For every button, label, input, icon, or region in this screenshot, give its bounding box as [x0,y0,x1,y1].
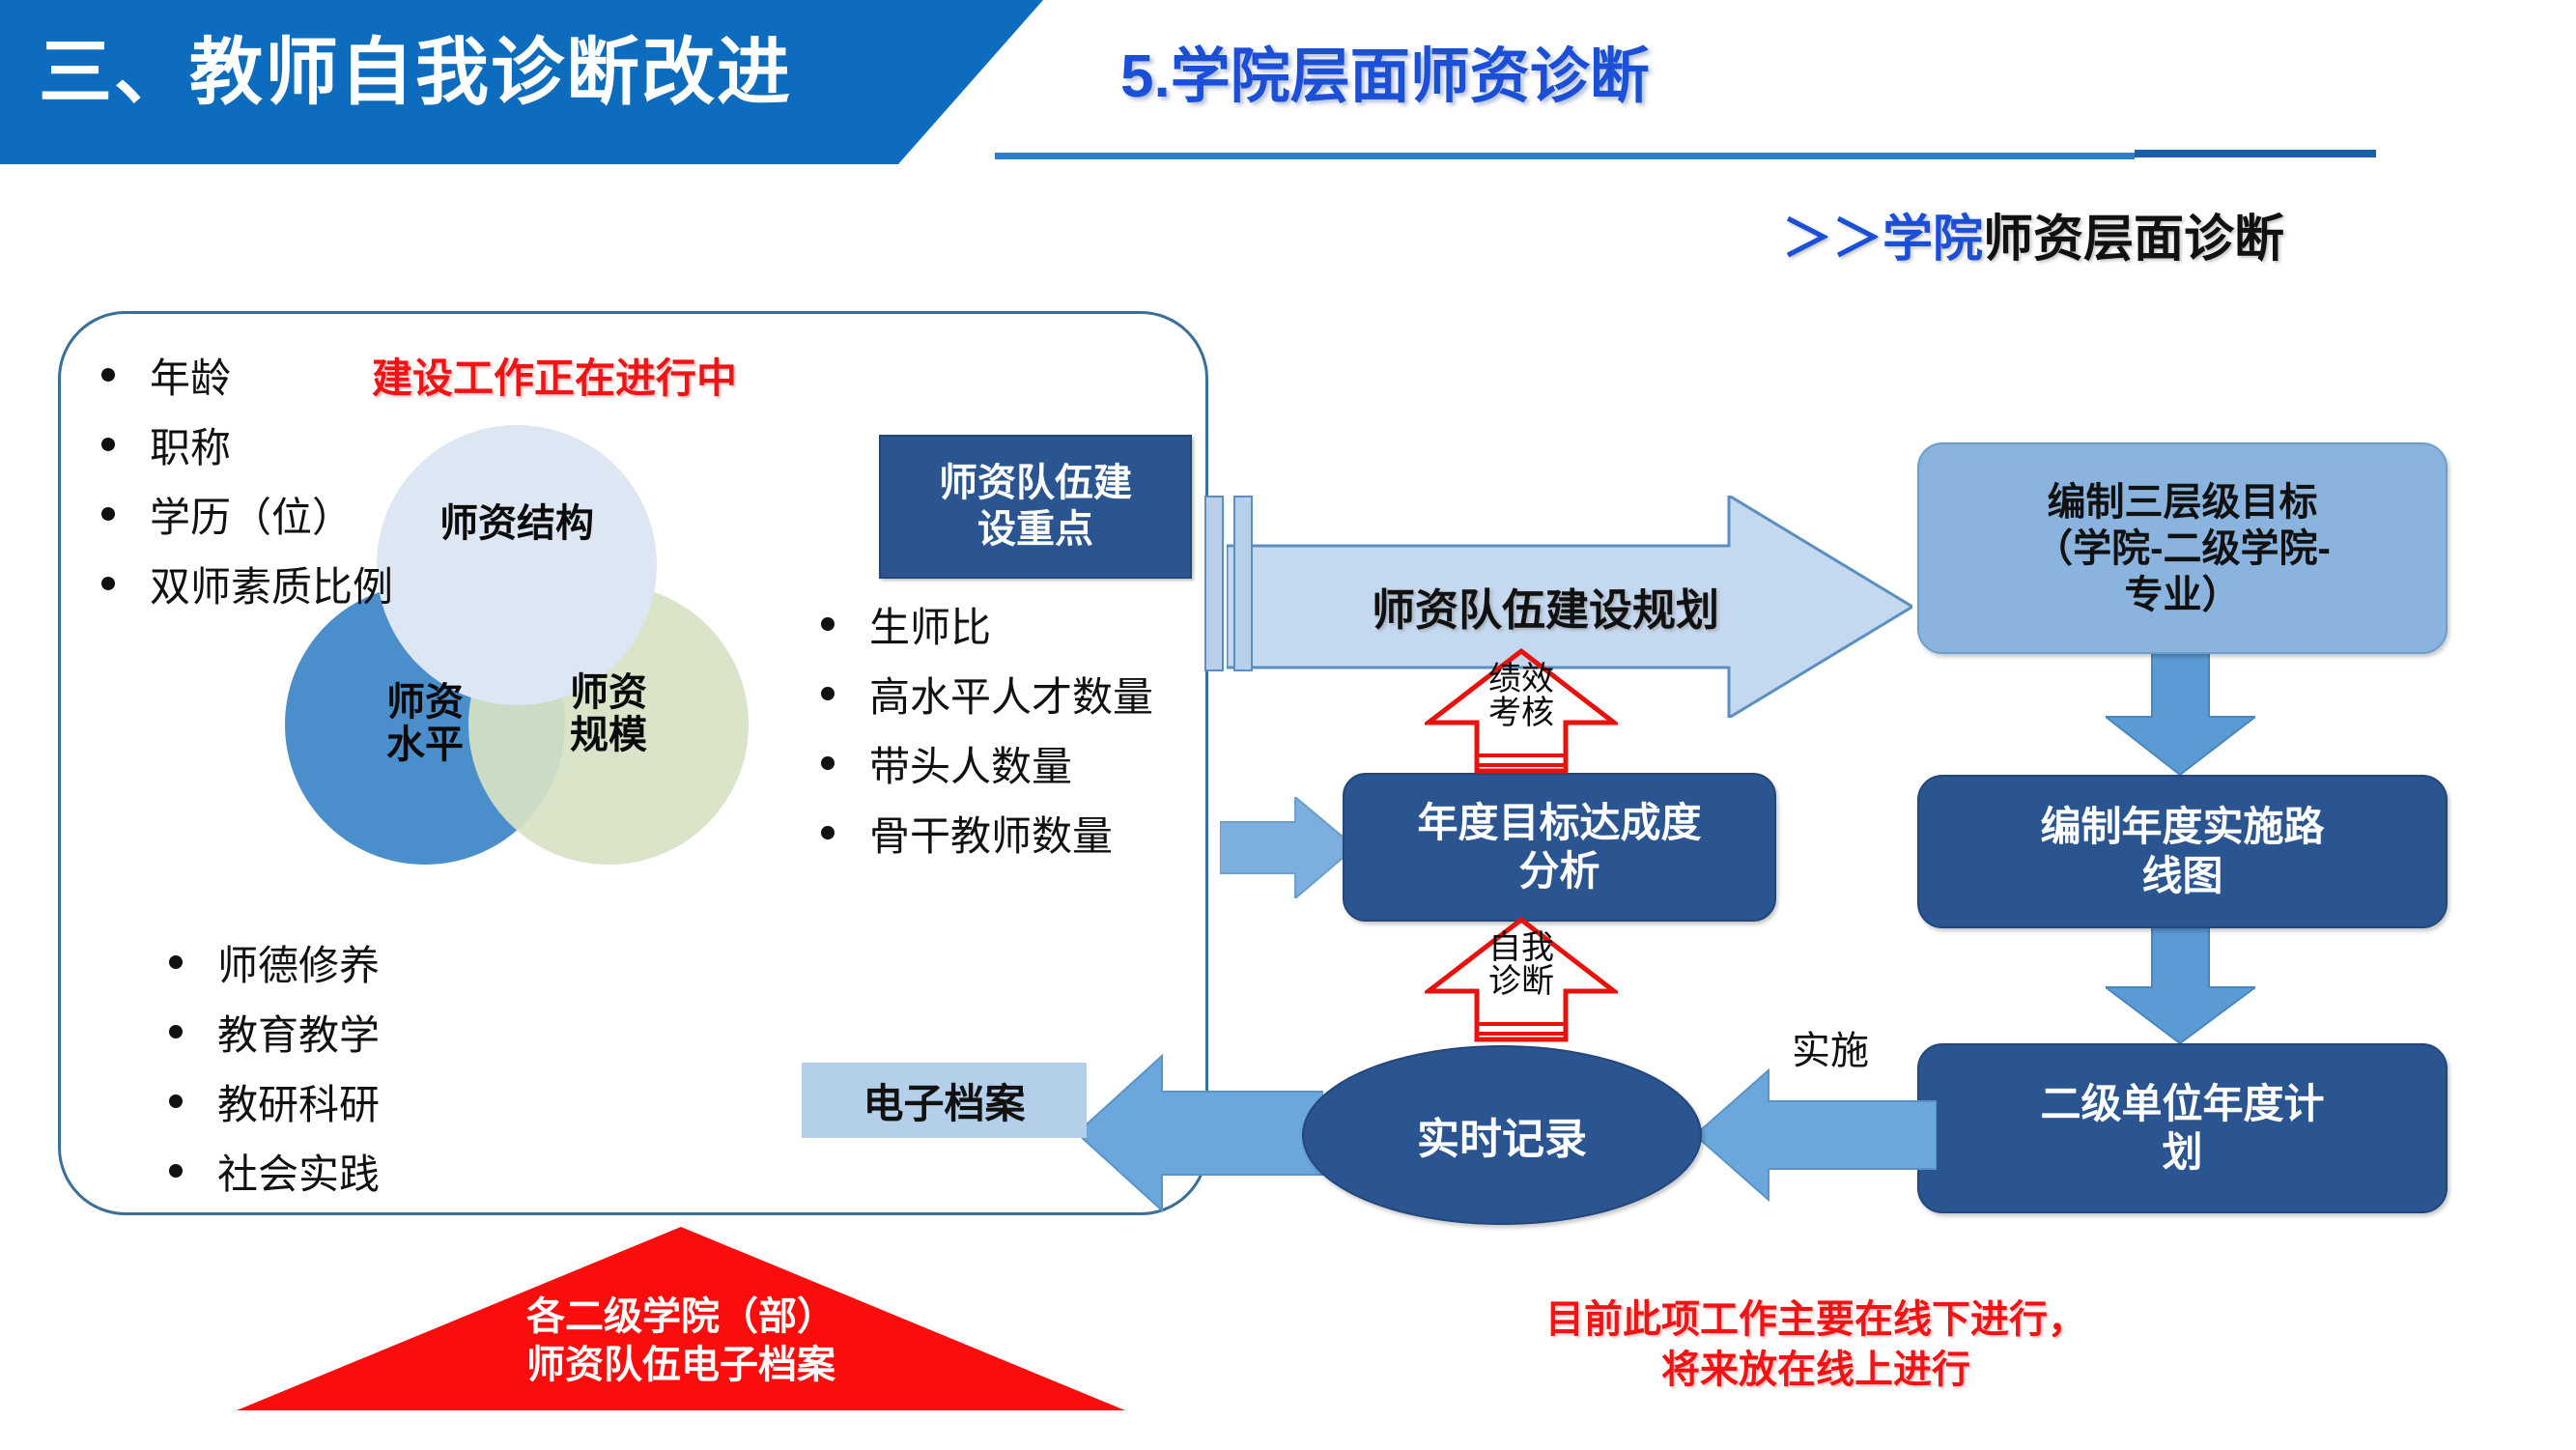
list-item-label: 生师比 [869,595,991,654]
list-item: 教研科研 [169,1066,380,1136]
bullet-dot-icon [101,577,115,590]
bullet-dot-icon [101,368,115,382]
venn-label-structure: 师资结构 [377,502,657,545]
list-item-label: 教育教学 [217,1003,380,1062]
box-annual-goal-analysis: 年度目标达成度分析 [1343,773,1776,922]
list-item-label: 学历（位） [150,485,353,544]
list-item: 带头人数量 [821,728,1153,798]
archive-arrow [1077,1051,1323,1215]
list-item-label: 年龄 [150,346,231,405]
venn-circle-structure [377,425,657,705]
section-title: 5.学院层面师资诊断 [1120,27,1650,114]
list-item-label: 骨干教师数量 [869,804,1113,863]
list-item-label: 职称 [150,415,231,474]
bullet-dot-icon [821,756,835,770]
arrow-tick-1 [1204,496,1224,671]
box-annual-roadmap: 编制年度实施路线图 [1917,775,2448,928]
down-arrow-roadmap-to-unitplan [2106,927,2255,1043]
header-divider-accent [2135,150,2376,157]
box-three-level-goals: 编制三层级目标（学院-二级学院-专业） [1917,442,2448,654]
chapter-title: 三、教师自我诊断改进 [39,15,908,131]
list-item-label: 社会实践 [217,1142,380,1201]
list-item: 职称 [101,410,393,479]
list-item: 年龄 [101,340,393,410]
list-item-label: 师德修养 [217,933,380,992]
implementation-label: 实施 [1792,1019,1869,1075]
list-item: 学历（位） [101,479,393,549]
box-unit-annual-plan: 二级单位年度计划 [1917,1043,2448,1213]
bullet-dot-icon [821,826,835,839]
structure-bullet-list: 年龄 职称 学历（位） 双师素质比例 [101,340,393,618]
scale-bullet-list: 生师比 高水平人才数量 带头人数量 骨干教师数量 [821,589,1153,867]
bullet-dot-icon [101,438,115,451]
bullet-dot-icon [169,955,183,969]
subtitle-marker: ＞＞学院 [1782,212,1983,268]
focus-box: 师资队伍建设重点 [879,435,1192,579]
down-arrow-goals-to-roadmap [2106,653,2255,775]
red-arrow-self-diagnosis-label: 自我诊断 [1444,931,1599,998]
bullet-dot-icon [169,1095,183,1108]
level-bullet-list: 师德修养 教育教学 教研科研 社会实践 [169,927,380,1206]
list-item-label: 双师素质比例 [150,554,393,613]
list-item: 社会实践 [169,1136,380,1206]
header-divider-line [995,153,2135,159]
bullet-dot-icon [821,687,835,700]
red-triangle-label: 各二级学院（部）师资队伍电子档案 [237,1293,1125,1389]
list-item-label: 带头人数量 [869,734,1072,793]
subtitle-rest: 师资层面诊断 [1983,212,2284,268]
bullet-dot-icon [821,617,835,631]
list-item: 生师比 [821,589,1153,659]
feed-arrow-to-analysis [1220,797,1355,898]
bottom-red-note: 目前此项工作主要在线下进行，将来放在线上进行 [1478,1294,2154,1395]
plan-arrow-label: 师资队伍建设规划 [1275,575,1816,638]
list-item-label: 教研科研 [217,1072,380,1131]
bullet-dot-icon [169,1164,183,1178]
implementation-arrow [1695,1063,1937,1208]
list-item: 双师素质比例 [101,549,393,618]
subtitle: ＞＞学院师资层面诊断 [1782,198,2284,270]
arrow-tick-2 [1233,496,1253,671]
construction-note: 建设工作正在进行中 [372,346,737,405]
list-item: 高水平人才数量 [821,659,1153,728]
list-item-label: 高水平人才数量 [869,665,1153,724]
list-item: 骨干教师数量 [821,798,1153,867]
ellipse-realtime-record: 实时记录 [1302,1045,1702,1225]
red-arrow-performance-label: 绩效考核 [1444,663,1599,729]
bullet-dot-icon [101,507,115,521]
venn-label-scale: 师资规模 [468,671,749,756]
list-item: 师德修养 [169,927,380,997]
bullet-dot-icon [169,1025,183,1038]
box-electronic-archive: 电子档案 [802,1063,1087,1138]
list-item: 教育教学 [169,997,380,1066]
